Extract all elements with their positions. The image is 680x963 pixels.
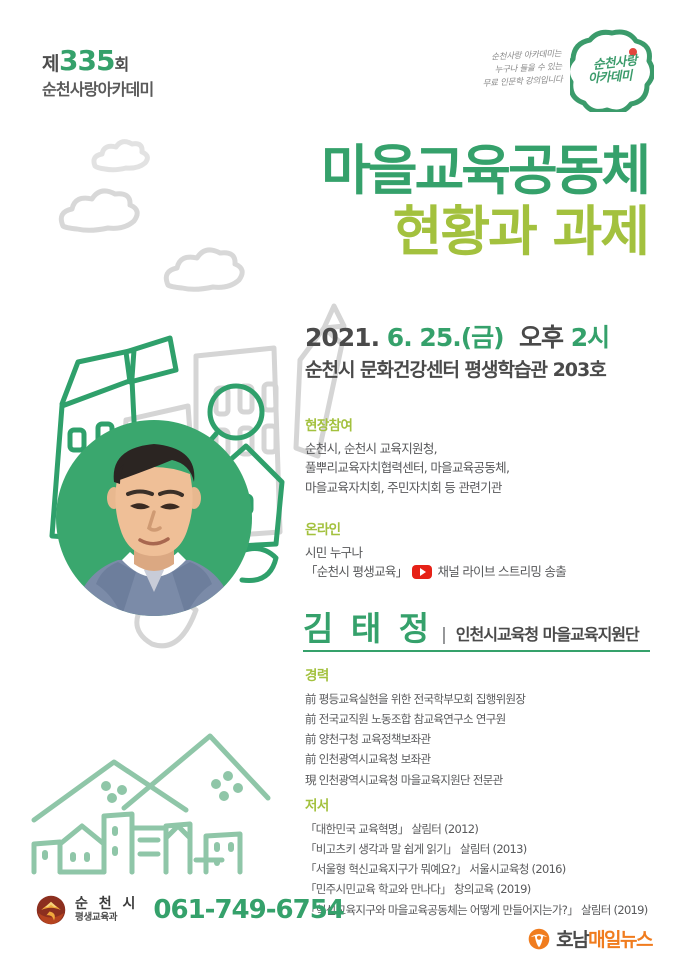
press-name: 호남매일뉴스 xyxy=(556,925,652,952)
date-weekday: (금) xyxy=(461,323,504,352)
speaker-name: 김 태 정 xyxy=(303,602,432,650)
time-value: 2시 xyxy=(571,323,609,352)
honam-news-emblem-icon xyxy=(528,928,550,950)
title-line-1: 마을교육공동체 xyxy=(321,142,648,199)
brand-stamp-line-2: 아카데미 xyxy=(588,69,633,86)
onsite-line: 순천시, 순천시 교육지원청, xyxy=(305,439,509,458)
books-section: 저서 「대한민국 교육혁명」 살림터 (2012) 「비고츠키 생각과 말 쉽게… xyxy=(305,794,648,920)
organizer-department: 평생교육과 xyxy=(75,913,138,924)
brand-tagline: 순천사랑 아카데미는 누구나 들을 수 있는 무료 인문학 강의입니다 xyxy=(481,48,563,92)
book-item: 「대한민국 교육혁명」 살림터 (2012) xyxy=(305,819,648,839)
academy-name: 순천사랑아카데미 xyxy=(42,81,153,100)
tagline-line-3: 무료 인문학 강의입니다 xyxy=(482,74,563,91)
book-item: 「비고츠키 생각과 말 쉽게 읽기」 살림터 (2013) xyxy=(305,839,648,859)
cloud-icon xyxy=(61,142,242,290)
speaker-portrait xyxy=(38,402,268,634)
online-section: 온라인 시민 누구나 「순천시 평생교육」 채널 라이브 스트리밍 송출 xyxy=(305,518,566,582)
organizer-footer: 순 천 시 평생교육과 061-749-6754 xyxy=(36,895,344,925)
youtube-icon[interactable] xyxy=(412,565,432,579)
suncheon-academy-logo: 순천사랑 아카데미 xyxy=(570,28,654,112)
career-heading: 경력 xyxy=(305,664,525,684)
episode-suffix: 회 xyxy=(114,55,128,74)
online-stream-line: 「순천시 평생교육」 채널 라이브 스트리밍 송출 xyxy=(305,562,566,581)
episode-line: 제335회 xyxy=(42,44,153,77)
title-line-2: 현황과 과제 xyxy=(321,203,648,260)
organizer-city: 순 천 시 xyxy=(75,897,138,913)
portrait-circle-background xyxy=(56,420,252,616)
brand-header: 순천사랑 아카데미는 누구나 들을 수 있는 무료 인문학 강의입니다 순천사랑… xyxy=(482,28,654,112)
page-title: 마을교육공동체 현황과 과제 xyxy=(321,142,648,260)
event-venue: 순천시 문화건강센터 평생학습관 203호 xyxy=(305,355,606,382)
date-year: 2021. xyxy=(305,323,379,352)
brand-stamp-text: 순천사랑 아카데미 xyxy=(570,28,654,112)
career-item: 前 인천광역시교육청 보좌관 xyxy=(305,749,525,769)
event-datetime: 2021. 6. 25.(금) 오후 2시 xyxy=(305,318,609,354)
book-item: 「민주시민교육 학교와 만나다」 창의교육 (2019) xyxy=(305,879,648,899)
book-item: 「혁신교육지구와 마을교육공동체는 어떻게 만들어지는가?」 살림터 (2019… xyxy=(305,900,648,920)
speaker-block: 김 태 정 | 인천시교육청 마을교육지원단 xyxy=(303,602,639,650)
press-name-dark: 호남 xyxy=(556,929,588,951)
career-item: 前 평등교육실현을 위한 전국학부모회 집행위원장 xyxy=(305,689,525,709)
press-credit: 호남매일뉴스 xyxy=(528,925,652,952)
book-item: 「서울형 혁신교육지구가 뭐예요?」 서울시교육청 (2016) xyxy=(305,859,648,879)
books-heading: 저서 xyxy=(305,794,648,814)
career-item: 現 인천광역시교육청 마을교육지원단 전문관 xyxy=(305,770,525,790)
speaker-separator: | xyxy=(441,625,447,645)
episode-number: 335 xyxy=(59,44,114,77)
onsite-line: 마을교육자치회, 주민자치회 등 관련기관 xyxy=(305,478,509,497)
episode-prefix: 제 xyxy=(42,53,59,75)
speaker-divider xyxy=(303,650,650,652)
event-poster: 제335회 순천사랑아카데미 순천사랑 아카데미는 누구나 들을 수 있는 무료… xyxy=(0,0,680,963)
onsite-line: 풀뿌리교육자치협력센터, 마을교육공동체, xyxy=(305,458,509,477)
onsite-section: 현장참여 순천시, 순천시 교육지원청, 풀뿌리교육자치협력센터, 마을교육공동… xyxy=(305,414,509,497)
press-name-orange: 매일뉴스 xyxy=(588,929,652,951)
stream-channel-suffix: 채널 라이브 스트리밍 송출 xyxy=(437,562,566,581)
episode-header: 제335회 순천사랑아카데미 xyxy=(42,44,153,100)
speaker-affiliation: 인천시교육청 마을교육지원단 xyxy=(456,621,639,645)
contact-phone[interactable]: 061-749-6754 xyxy=(153,895,344,925)
onsite-heading: 현장참여 xyxy=(305,414,509,434)
village-mountain-illustration-icon xyxy=(34,736,268,872)
online-heading: 온라인 xyxy=(305,518,566,538)
career-section: 경력 前 평등교육실현을 위한 전국학부모회 집행위원장 前 전국교직원 노동조… xyxy=(305,664,525,790)
career-item: 前 양천구청 교육정책보좌관 xyxy=(305,729,525,749)
online-audience: 시민 누구나 xyxy=(305,543,566,562)
career-item: 前 전국교직원 노동조합 참교육연구소 연구원 xyxy=(305,709,525,729)
date-day: 25. xyxy=(419,323,460,352)
suncheon-city-emblem-icon xyxy=(36,895,66,925)
portrait-photo xyxy=(56,420,252,616)
stream-channel-name: 「순천시 평생교육」 xyxy=(305,562,407,581)
organizer-text: 순 천 시 평생교육과 xyxy=(75,897,138,923)
date-month: 6. xyxy=(387,323,412,352)
time-prefix: 오후 xyxy=(519,323,563,352)
